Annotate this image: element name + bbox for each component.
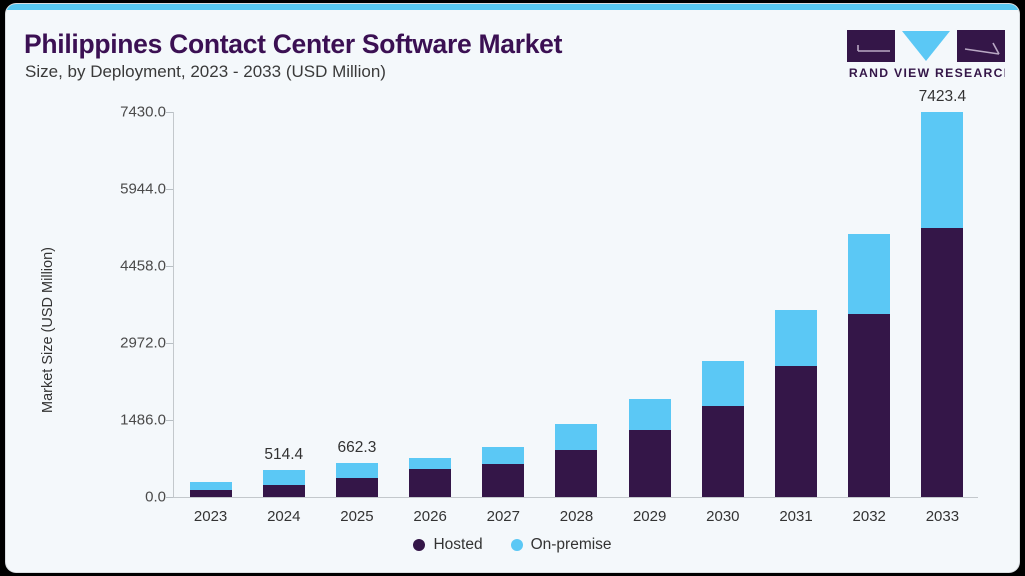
bar-group[interactable]: 2028	[540, 88, 613, 557]
chart-title: Philippines Contact Center Software Mark…	[24, 29, 562, 60]
legend-item-on-premise[interactable]: On-premise	[511, 536, 612, 554]
y-tick-mark	[166, 112, 173, 113]
bar-segment-hosted[interactable]	[702, 406, 744, 497]
y-axis-title: Market Size (USD Million)	[40, 180, 56, 480]
legend-swatch-icon	[413, 539, 425, 551]
legend-label: Hosted	[433, 536, 482, 554]
y-axis-tick-labels: 7430.0 5944.0 4458.0 2972.0 1486.0 0.0	[86, 88, 166, 572]
bar-segment-hosted[interactable]	[409, 469, 451, 497]
logo-wordmark: GRAND VIEW RESEARCH	[847, 66, 1005, 80]
stacked-bar[interactable]	[555, 424, 597, 497]
x-tick-label: 2024	[267, 508, 300, 525]
bar-segment-hosted[interactable]	[190, 490, 232, 497]
bar-segment-on-premise[interactable]	[482, 447, 524, 464]
y-tick-label: 2972.0	[120, 335, 166, 352]
y-tick-label: 4458.0	[120, 258, 166, 275]
stacked-bar[interactable]	[848, 234, 890, 497]
bar-segment-hosted[interactable]	[629, 430, 671, 497]
y-tick-mark	[166, 266, 173, 267]
stacked-bar[interactable]	[263, 470, 305, 497]
gvr-logo-mark-icon: GRAND VIEW RESEARCH	[847, 30, 1005, 82]
x-tick-label: 2027	[487, 508, 520, 525]
bar-segment-hosted[interactable]	[482, 464, 524, 497]
y-tick-mark	[166, 497, 173, 498]
stacked-bar[interactable]	[482, 447, 524, 497]
bar-segment-hosted[interactable]	[555, 450, 597, 497]
y-tick-label: 1486.0	[120, 412, 166, 429]
stacked-bar[interactable]	[629, 399, 671, 497]
x-tick-label: 2031	[779, 508, 812, 525]
chart-plot-area: Market Size (USD Million) 7430.0 5944.0 …	[6, 88, 1019, 572]
bar-group[interactable]: 2023	[174, 88, 247, 557]
bar-value-label: 662.3	[338, 439, 377, 457]
legend-label: On-premise	[531, 536, 612, 554]
stacked-bar[interactable]	[702, 361, 744, 497]
bar-value-label: 7423.4	[919, 88, 966, 106]
x-tick-label: 2026	[413, 508, 446, 525]
bar-segment-on-premise[interactable]	[848, 234, 890, 314]
bar-segment-on-premise[interactable]	[921, 112, 963, 228]
x-tick-label: 2033	[926, 508, 959, 525]
bar-segment-on-premise[interactable]	[263, 470, 305, 485]
y-tick-mark	[166, 420, 173, 421]
bar-segment-on-premise[interactable]	[409, 458, 451, 469]
x-tick-label: 2032	[853, 508, 886, 525]
bar-group[interactable]: 2026	[394, 88, 467, 557]
chart-header: Philippines Contact Center Software Mark…	[6, 10, 1019, 88]
y-tick-mark	[166, 189, 173, 190]
stacked-bar[interactable]	[775, 310, 817, 497]
bar-segment-hosted[interactable]	[848, 314, 890, 497]
legend-swatch-icon	[511, 539, 523, 551]
bar-group[interactable]: 2027	[467, 88, 540, 557]
bar-group[interactable]: 2030	[686, 88, 759, 557]
stacked-bar[interactable]	[409, 458, 451, 497]
bar-segment-hosted[interactable]	[263, 485, 305, 497]
chart-subtitle: Size, by Deployment, 2023 - 2033 (USD Mi…	[25, 62, 386, 82]
x-tick-label: 2028	[560, 508, 593, 525]
bar-segment-on-premise[interactable]	[775, 310, 817, 366]
bar-group[interactable]: 514.42024	[247, 88, 320, 557]
x-tick-label: 2029	[633, 508, 666, 525]
y-tick-label: 5944.0	[120, 181, 166, 198]
x-tick-label: 2030	[706, 508, 739, 525]
legend-item-hosted[interactable]: Hosted	[413, 536, 482, 554]
bar-group[interactable]: 2031	[759, 88, 832, 557]
x-tick-label: 2025	[340, 508, 373, 525]
stacked-bar[interactable]	[190, 482, 232, 497]
bar-segment-on-premise[interactable]	[629, 399, 671, 430]
stacked-bar[interactable]	[336, 463, 378, 497]
bar-segment-on-premise[interactable]	[190, 482, 232, 490]
chart-legend: HostedOn-premise	[6, 536, 1019, 554]
bar-group[interactable]: 7423.42033	[906, 88, 979, 557]
stacked-bar[interactable]	[921, 112, 963, 497]
bar-group[interactable]: 2032	[833, 88, 906, 557]
y-tick-label: 7430.0	[120, 104, 166, 121]
bar-group[interactable]: 662.32025	[320, 88, 393, 557]
chart-card: Philippines Contact Center Software Mark…	[6, 4, 1019, 572]
bar-segment-on-premise[interactable]	[555, 424, 597, 450]
grand-view-research-logo: GRAND VIEW RESEARCH	[847, 30, 1005, 82]
bar-segment-on-premise[interactable]	[702, 361, 744, 406]
bar-segment-hosted[interactable]	[921, 228, 963, 497]
y-tick-label: 0.0	[145, 489, 166, 506]
bar-segment-hosted[interactable]	[336, 478, 378, 497]
bar-value-label: 514.4	[264, 446, 303, 464]
bar-segment-on-premise[interactable]	[336, 463, 378, 478]
bar-segment-hosted[interactable]	[775, 366, 817, 497]
y-tick-mark	[166, 343, 173, 344]
bar-group[interactable]: 2029	[613, 88, 686, 557]
x-tick-label: 2023	[194, 508, 227, 525]
